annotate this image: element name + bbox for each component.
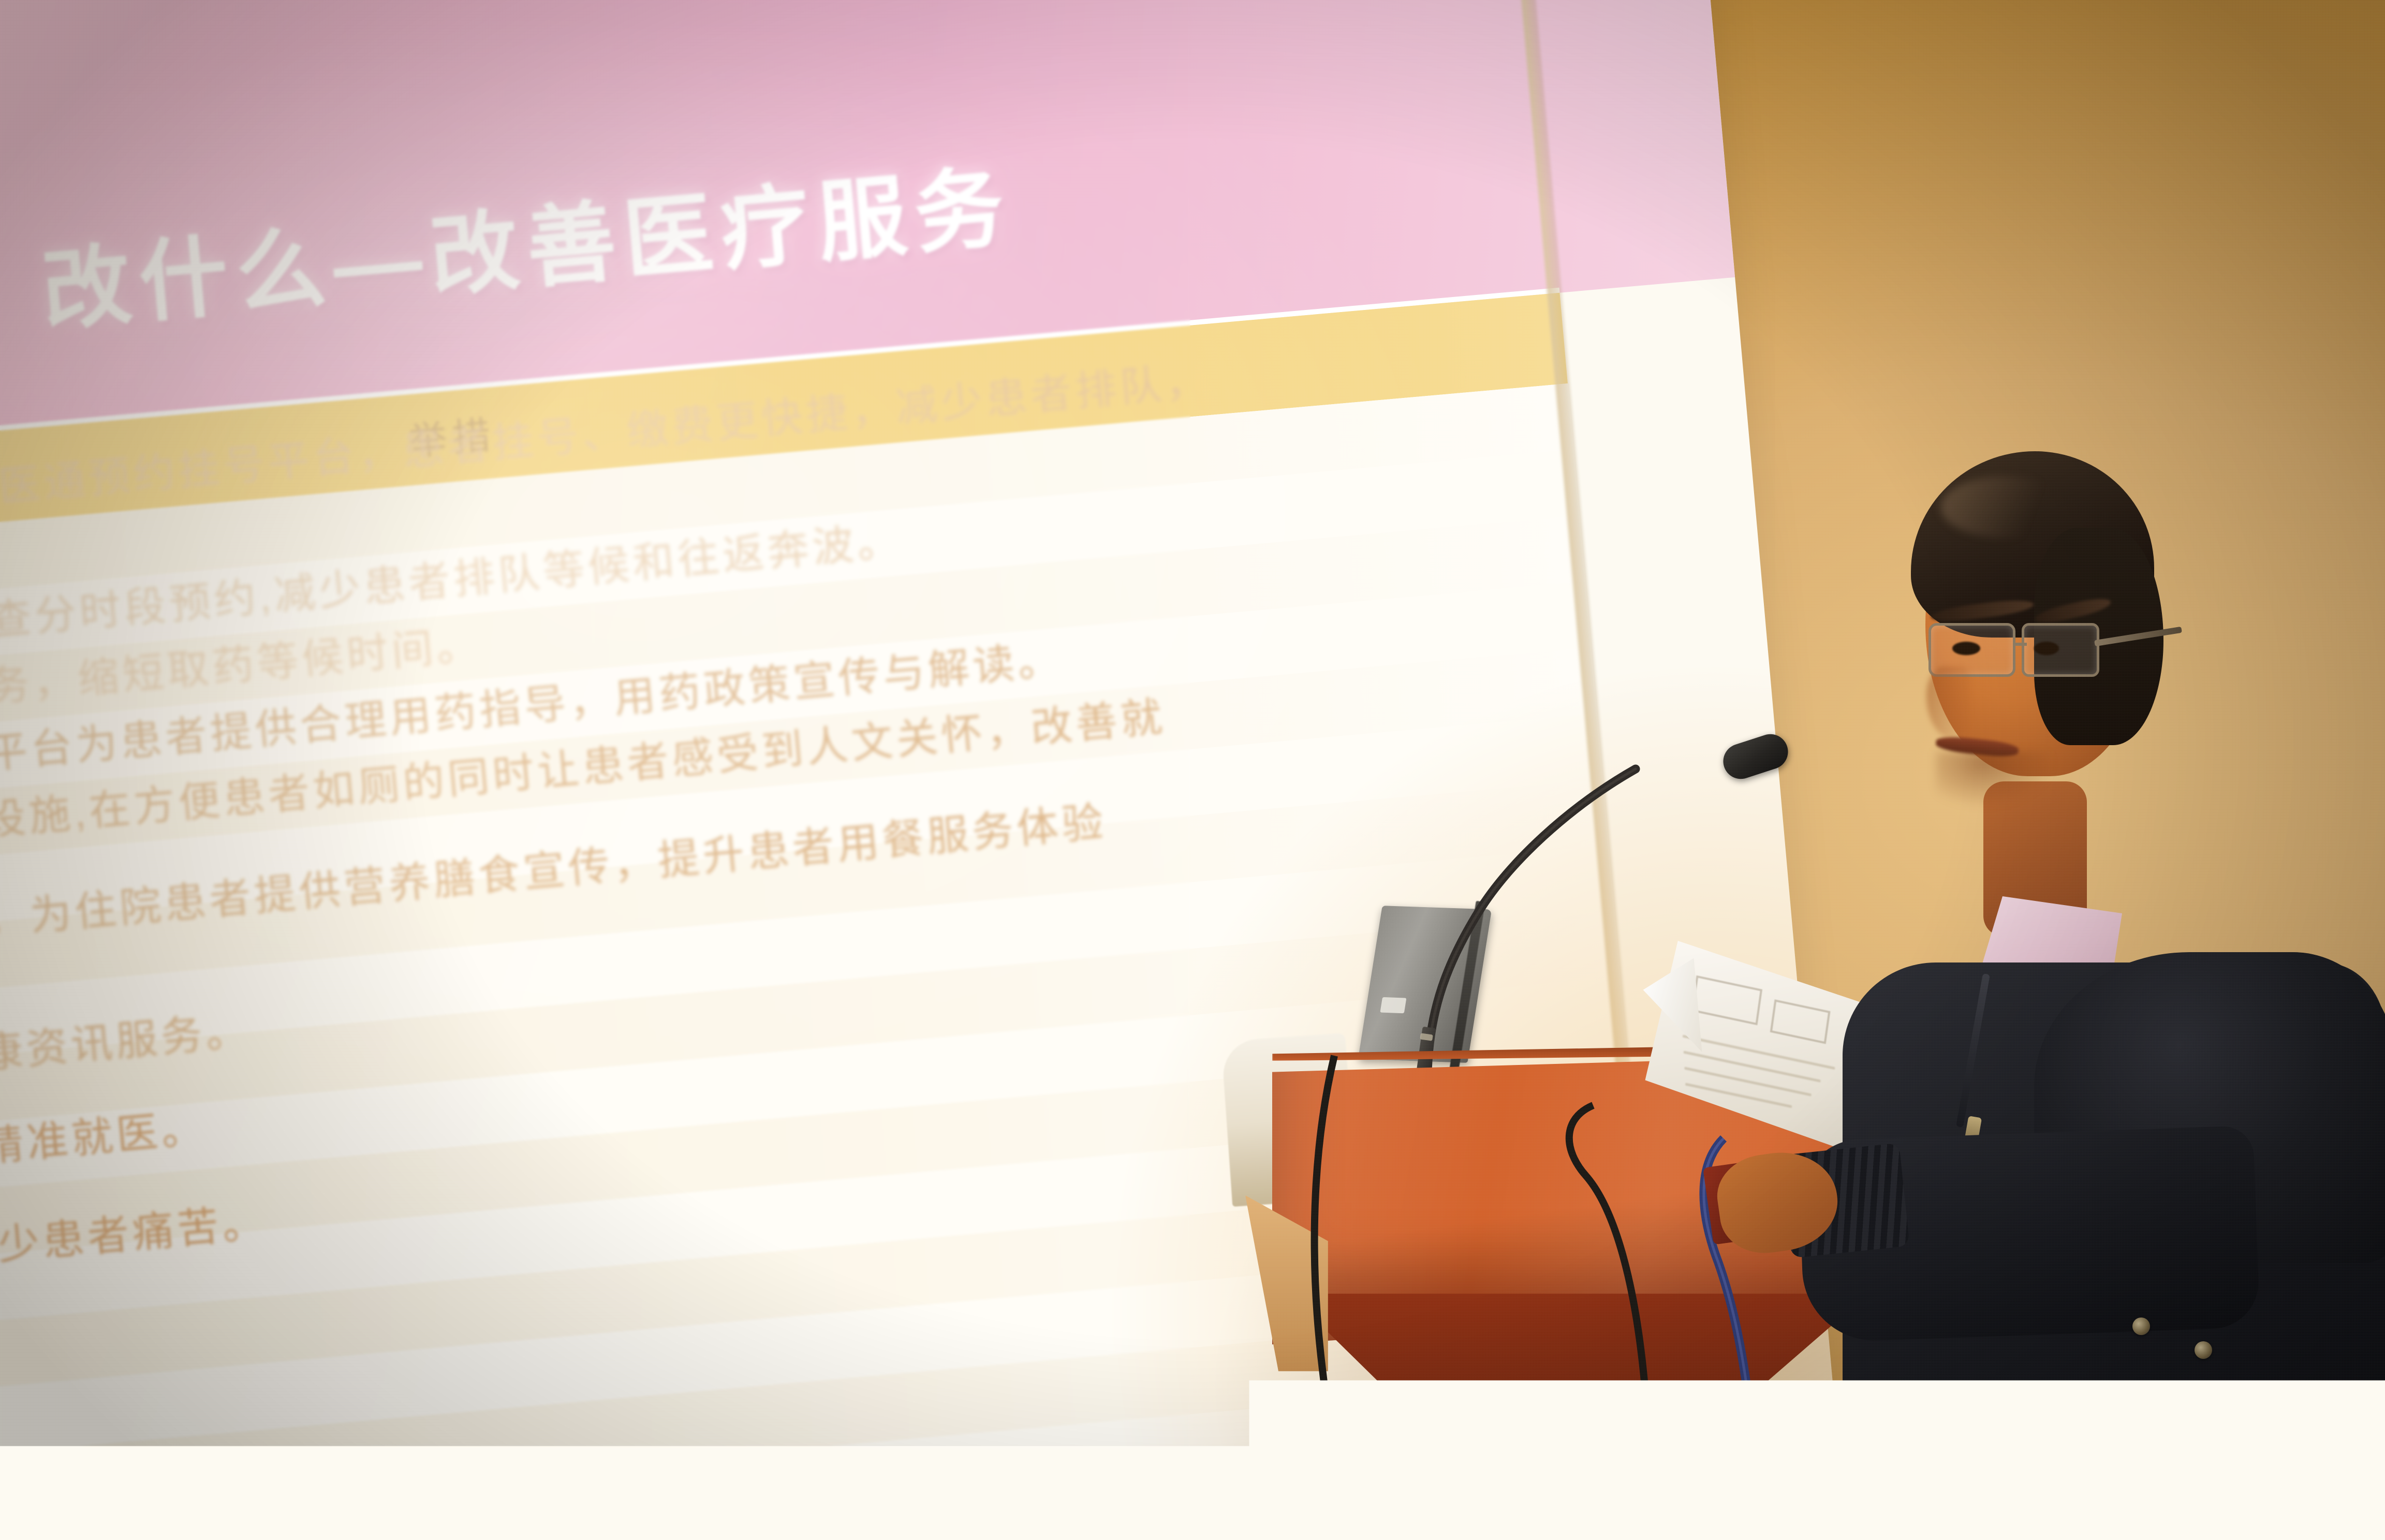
speaker-presenter <box>1863 455 2385 1540</box>
eyeglass-bridge <box>2014 643 2027 646</box>
laptop-logo <box>1380 997 1406 1013</box>
paper-text-line <box>1683 1051 1820 1083</box>
jacket-snap-button <box>2132 1317 2150 1335</box>
lectern-pedestal-block <box>1449 1439 1739 1540</box>
nose <box>1926 667 1971 739</box>
photograph-scene: 改什么—改善医疗服务 举措 网技术，搭建完善京医通预约挂号平台，患者挂号、缴费更… <box>0 0 2385 1540</box>
jacket-waistband <box>1894 1449 2381 1527</box>
paper-text-line <box>1684 1067 1812 1097</box>
jacket-snap-button <box>2195 1341 2212 1359</box>
hair-highlight <box>1941 476 2070 538</box>
eye <box>2034 642 2059 655</box>
chin-shadow <box>1936 751 2055 808</box>
paper-box <box>1691 975 1762 1025</box>
eyeglass-lens <box>2022 623 2099 677</box>
eye <box>1952 642 1980 655</box>
paper-box <box>1770 999 1831 1044</box>
